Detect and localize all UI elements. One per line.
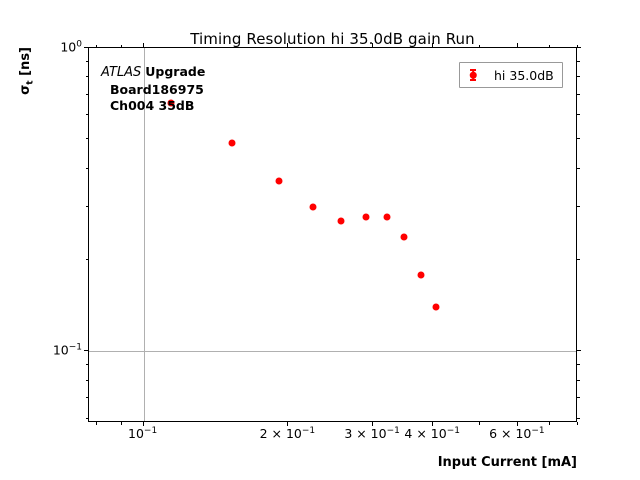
x-tick-minor	[96, 45, 97, 48]
y-tick-major	[84, 47, 88, 48]
y-tick-minor	[577, 206, 580, 207]
y-tick-minor	[577, 168, 580, 169]
data-point	[363, 214, 370, 221]
upgrade-text: Upgrade	[145, 64, 205, 79]
y-tick-minor	[86, 380, 89, 381]
annotation-block: ATLAS Upgrade Board186975 Ch004 35dB	[101, 64, 205, 114]
x-tick-major	[432, 43, 433, 47]
annotation-line-3: Ch004 35dB	[101, 98, 205, 114]
data-point	[337, 218, 344, 225]
x-tick-minor	[549, 45, 550, 48]
data-point	[432, 303, 439, 310]
y-tick-minor	[577, 61, 580, 62]
y-tick-label: 10−1	[48, 343, 82, 358]
y-tick-major	[577, 350, 581, 351]
y-tick-minor	[577, 94, 580, 95]
data-point	[383, 214, 390, 221]
legend-entry-label: hi 35.0dB	[494, 68, 554, 83]
y-tick-minor	[86, 259, 89, 260]
x-tick-major	[372, 43, 373, 47]
x-tick-label: 4 × 10−1	[404, 426, 460, 441]
data-point	[417, 272, 424, 279]
y-tick-minor	[577, 114, 580, 115]
y-tick-minor	[86, 138, 89, 139]
x-tick-label: 3 × 10−1	[344, 426, 400, 441]
chart-title: Timing Resolution hi 35.0dB gain Run	[88, 30, 577, 48]
y-axis-label: σt [ns]	[18, 47, 36, 95]
x-tick-minor	[577, 422, 578, 425]
y-tick-major	[84, 350, 88, 351]
y-tick-minor	[86, 76, 89, 77]
y-tick-minor	[577, 418, 580, 419]
data-point	[229, 139, 236, 146]
y-tick-minor	[577, 364, 580, 365]
x-tick-major	[287, 43, 288, 47]
y-tick-minor	[577, 138, 580, 139]
data-point	[275, 178, 282, 185]
legend-box[interactable]: hi 35.0dB	[459, 62, 563, 88]
y-tick-minor	[86, 206, 89, 207]
atlas-text: ATLAS	[101, 65, 141, 80]
legend-errorbar-marker-icon	[466, 67, 480, 83]
x-tick-minor	[549, 422, 550, 425]
y-tick-minor	[577, 259, 580, 260]
y-tick-minor	[86, 94, 89, 95]
x-tick-major	[517, 43, 518, 47]
x-tick-label: 6 × 10−1	[489, 426, 545, 441]
matplotlib-figure: Timing Resolution hi 35.0dB gain Run 10−…	[0, 0, 640, 480]
y-tick-major	[577, 47, 581, 48]
y-tick-minor	[86, 397, 89, 398]
y-tick-minor	[86, 418, 89, 419]
x-axis-label: Input Current [mA]	[438, 455, 577, 470]
x-tick-minor	[121, 422, 122, 425]
x-tick-minor	[479, 422, 480, 425]
y-tick-minor	[577, 380, 580, 381]
x-tick-minor	[121, 45, 122, 48]
y-tick-minor	[86, 114, 89, 115]
x-tick-major	[143, 43, 144, 47]
y-axis-unit: [ns]	[18, 47, 33, 80]
x-tick-label: 2 × 10−1	[260, 426, 316, 441]
sigma-symbol: σ	[18, 85, 33, 95]
x-tick-minor	[96, 422, 97, 425]
y-tick-label: 100	[48, 40, 82, 55]
annotation-line-1: ATLAS Upgrade	[101, 64, 205, 82]
y-tick-minor	[86, 168, 89, 169]
y-tick-minor	[577, 397, 580, 398]
y-tick-minor	[577, 76, 580, 77]
y-tick-minor	[86, 61, 89, 62]
y-tick-minor	[86, 364, 89, 365]
annotation-line-2: Board186975	[101, 82, 205, 98]
x-tick-minor	[479, 45, 480, 48]
x-tick-label: 10−1	[128, 426, 157, 441]
sigma-subscript: t	[26, 80, 36, 84]
data-point	[401, 234, 408, 241]
data-point	[310, 203, 317, 210]
